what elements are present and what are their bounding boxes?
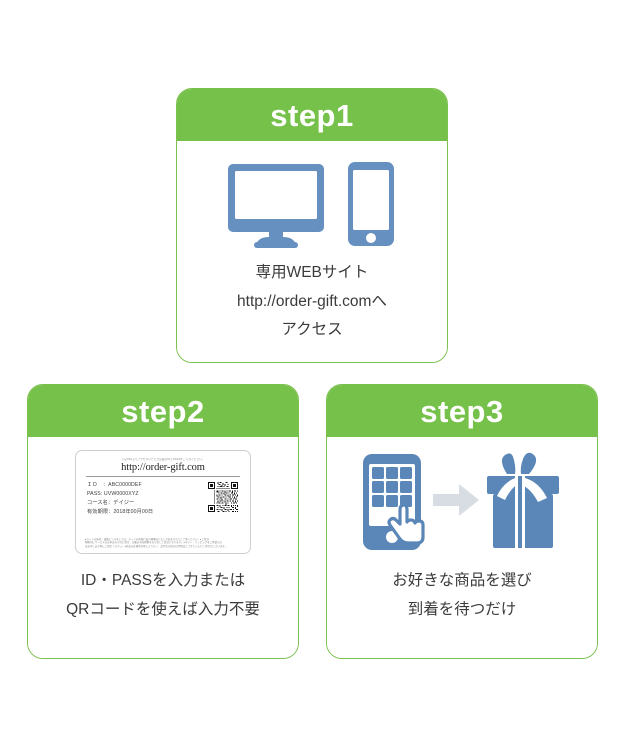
gift-card-field-pass: PASS: UVW0000XYZ [87,491,153,497]
step-card-step1: step1 [176,88,448,363]
caption-line: 到着を待つだけ [392,596,532,625]
gift-card-icon: 下記URLよりアクセスいただき記載のIDとPASSをご入力ください。 http:… [75,450,251,554]
step3-illustration [327,437,597,567]
caption-line: http://order-gift.comへ [237,288,387,317]
footnote-line: 期限内にサービスのお申込みがない場合、記載の有効期限をもちまして失効となります。… [85,541,241,544]
step-header-label: step3 [420,396,503,427]
gift-card-field-course: コース名：デイジー [87,499,153,506]
gift-card-microtext: 下記URLよりアクセスいただき記載のIDとPASSをご入力ください。 [85,458,241,461]
step-header-step1: step1 [177,89,447,141]
step-header-step3: step3 [327,385,597,437]
step-body-step1: 専用WEBサイト http://order-gift.comへ アクセス [177,141,447,362]
step-header-label: step2 [121,396,204,427]
steps-diagram: step1 [0,0,625,750]
gift-card-footnote: ●カードの紛失・盗難につきましては、カードの再発行及び補償はいたしかねますのでご… [85,538,241,548]
step-body-step3: お好きな商品を選び 到着を待つだけ [327,437,597,658]
caption-line: アクセス [237,316,387,345]
gift-card-details: ＩＤ ：ABC0000DEF PASS: UVW0000XYZ コース名：デイジ… [85,481,241,534]
step-header-label: step1 [270,100,353,131]
footnote-line: はお申し込み時にご指定ください。●商品の在庫状況等により万一、品切れの場合は代替… [85,545,241,548]
caption-line: お好きな商品を選び [392,567,532,596]
caption-line: ID・PASSを入力または [66,567,260,596]
step-card-step3: step3 [326,384,598,659]
gift-card-field-id: ＩＤ ：ABC0000DEF [87,481,153,488]
caption-line: 専用WEBサイト [237,259,387,288]
caption-line: QRコードを使えば入力不要 [66,596,260,625]
smartphone-icon [348,162,394,246]
arrow-right-icon [433,484,479,516]
devices-illustration [222,150,402,250]
desktop-monitor-icon [228,164,324,248]
step-body-step2: 下記URLよりアクセスいただき記載のIDとPASSをご入力ください。 http:… [28,437,298,658]
step3-caption: お好きな商品を選び 到着を待つだけ [392,567,532,624]
step2-caption: ID・PASSを入力または QRコードを使えば入力不要 [66,567,260,624]
gift-card-url: http://order-gift.com [85,462,241,473]
step2-illustration: 下記URLよりアクセスいただき記載のIDとPASSをご入力ください。 http:… [28,437,298,567]
step1-illustration [177,141,447,259]
qr-code-icon [208,482,238,512]
step-header-step2: step2 [28,385,298,437]
step-card-step2: step2 下記URLよりアクセスいただき記載のIDとPASSをご入力ください。… [27,384,299,659]
smartphone-tap-icon [363,454,423,550]
step1-caption: 専用WEBサイト http://order-gift.comへ アクセス [237,259,387,345]
gift-card-field-expiry: 有効期限：2018年00月00日 [87,508,153,515]
gift-card-field-list: ＩＤ ：ABC0000DEF PASS: UVW0000XYZ コース名：デイジ… [85,481,153,515]
gift-card-divider [86,476,240,477]
gift-box-icon [487,453,559,548]
select-and-receive-illustration [357,448,567,556]
